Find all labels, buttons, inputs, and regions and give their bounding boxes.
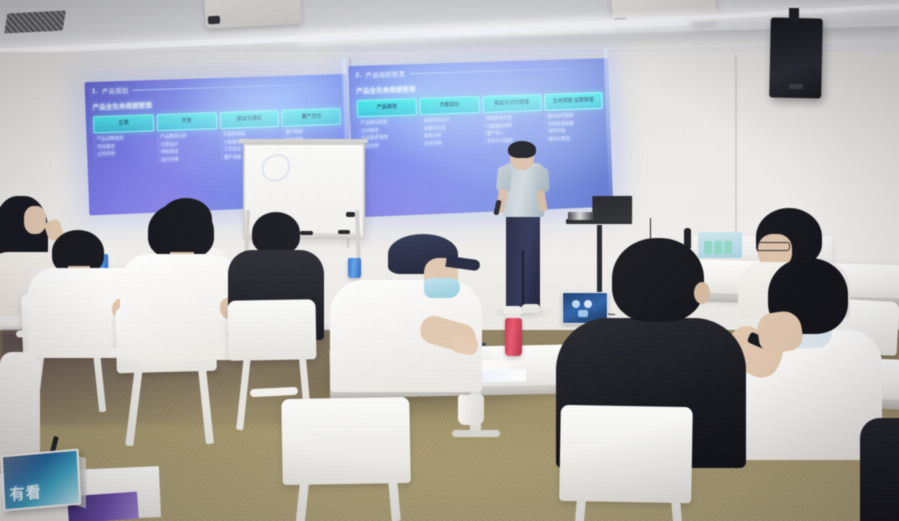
kicker-rule bbox=[133, 83, 340, 91]
slide-column: 开发 产品需求分析 方案设计 样机验证 设计评审 bbox=[156, 112, 218, 165]
marker-icon bbox=[300, 231, 313, 235]
cabinet-item bbox=[724, 241, 732, 254]
slide-column-body: 产品路标规划 立项管理 产品需求管理 竞品分析 bbox=[357, 118, 418, 150]
projected-slide-right: 2. 产品组织职责 产品全生命周期管理 产品规划 产品路标规划 立项管理 产品需… bbox=[348, 58, 613, 217]
slide-kicker-number: 2. bbox=[356, 72, 362, 78]
slide-bullet: 竞品分析 bbox=[361, 141, 418, 150]
name-tent-card: 有看 bbox=[1, 449, 82, 512]
pink-drink-bottle bbox=[505, 318, 522, 356]
tablet-app-icon bbox=[572, 300, 580, 308]
tablet-app-icon bbox=[584, 300, 592, 308]
chair bbox=[281, 397, 410, 485]
slide-column-body: 产品战略规划 市场需求 立项评审 bbox=[94, 134, 155, 158]
slide-column-header: 方案设计 bbox=[420, 96, 480, 115]
slide-column-header: 产品规划 bbox=[357, 98, 418, 117]
glasses-icon bbox=[756, 242, 790, 251]
presenter-shoe bbox=[521, 304, 540, 313]
slide-column-header: 验证与测试 bbox=[219, 110, 279, 129]
attendee-head bbox=[148, 203, 214, 259]
slide-column: 生命周期 运营管理 版本迭代规划 市场反馈收集 退市评估 备件与售后 bbox=[544, 92, 604, 144]
cabinet-item bbox=[704, 241, 712, 254]
slide-bullet: 技术评审 bbox=[424, 139, 481, 148]
slide-column-header: 验证与交付管理 bbox=[482, 94, 541, 113]
cabinet-item bbox=[714, 241, 722, 254]
classroom-photo: 1. 产品规划 产品全生命周期管理 立项 产品战略规划 市场需求 立项评审 开发 bbox=[0, 0, 899, 521]
presenter-leg-split bbox=[522, 250, 524, 312]
marker-icon bbox=[338, 230, 350, 234]
tent-card-text: 有看 bbox=[9, 482, 75, 503]
air-vent-icon bbox=[4, 10, 66, 33]
attendee-ear bbox=[694, 282, 710, 304]
speaker-bracket bbox=[789, 8, 799, 22]
wall-seam bbox=[735, 55, 737, 255]
chair bbox=[227, 299, 316, 361]
slide-column: 产品规划 产品路标规划 立项管理 产品需求管理 竞品分析 bbox=[357, 98, 419, 151]
attendee-far-right bbox=[860, 418, 899, 521]
presenter-hair bbox=[508, 141, 536, 158]
laptop bbox=[592, 196, 632, 222]
slide-bullet: 设计评审 bbox=[161, 155, 218, 164]
face-mask-icon bbox=[424, 278, 460, 298]
slide-column-header: 立项 bbox=[93, 114, 154, 133]
ceiling-projector bbox=[204, 0, 301, 28]
slide-bullet: 备件与售后 bbox=[548, 134, 604, 143]
marker-icon bbox=[346, 212, 355, 217]
slide-column: 立项 产品战略规划 市场需求 立项评审 bbox=[93, 114, 155, 167]
projector-lens-icon bbox=[208, 16, 220, 25]
attendee-head bbox=[612, 238, 704, 322]
speaker-grille-icon bbox=[789, 84, 803, 89]
slide-bullet: 立项评审 bbox=[97, 150, 155, 159]
blue-water-bottle bbox=[348, 258, 361, 278]
slide-kicker-title: 产品组织职责 bbox=[366, 69, 406, 79]
slide-columns: 产品规划 产品路标规划 立项管理 产品需求管理 竞品分析 方案设计 系统架构设计… bbox=[357, 92, 604, 151]
slide-column-body: 版本迭代规划 市场反馈收集 退市评估 备件与售后 bbox=[545, 112, 604, 143]
attendee-face bbox=[24, 206, 46, 234]
slide-column-body: 测试验证计划 问题跟踪闭环 量产导入 交付节点管控 bbox=[483, 114, 543, 145]
table-foot bbox=[452, 430, 500, 437]
chair bbox=[559, 405, 693, 503]
slide-column-header: 量产交付 bbox=[282, 108, 341, 127]
desk-clutter bbox=[568, 212, 594, 220]
slide-column: 验证与交付管理 测试验证计划 问题跟踪闭环 量产导入 交付节点管控 bbox=[482, 94, 543, 146]
attendee-head bbox=[252, 212, 300, 254]
kicker-rule bbox=[409, 67, 601, 74]
chair-leg bbox=[575, 498, 586, 521]
tablet-app-icon bbox=[578, 310, 588, 317]
slide-column: 方案设计 系统架构设计 软硬件方案 成本分析 技术评审 bbox=[420, 96, 481, 149]
slide-column-body: 系统架构设计 软硬件方案 成本分析 技术评审 bbox=[420, 116, 480, 148]
slide-kicker-title: 产品规划 bbox=[102, 86, 129, 96]
slide-kicker-number: 1. bbox=[92, 88, 98, 94]
white-paper-cup bbox=[458, 395, 484, 425]
slide-column-header: 生命周期 运营管理 bbox=[544, 92, 603, 111]
slide-column-header: 开发 bbox=[156, 112, 217, 131]
slide-column-body: 产品需求分析 方案设计 样机验证 设计评审 bbox=[157, 132, 218, 164]
